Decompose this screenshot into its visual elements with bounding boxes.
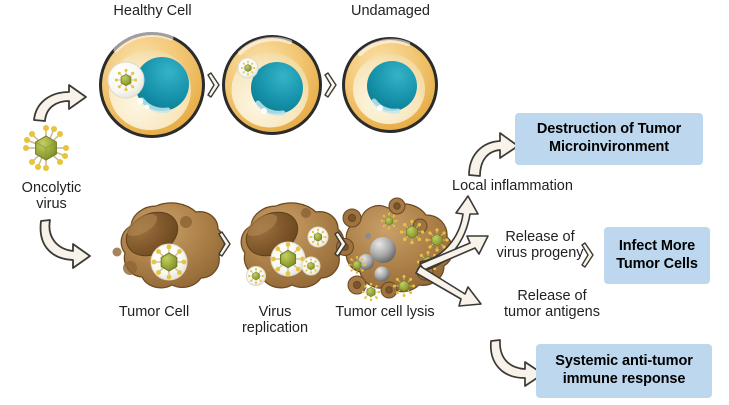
label-tumor-cell: Tumor Cell — [93, 304, 215, 320]
chevron-right-icon — [325, 73, 336, 97]
curved-arrow-icon — [469, 133, 518, 176]
outcome-box-systemic[interactable]: Systemic anti-tumor immune response — [536, 344, 712, 398]
healthy-cell-icon — [222, 35, 322, 135]
curved-arrow-icon — [34, 85, 86, 121]
outcome-box-infect-more[interactable]: Infect More Tumor Cells — [604, 227, 710, 284]
tumor-cell-lysis-icon — [337, 198, 453, 301]
label-virus-replication: Virus replication — [220, 304, 330, 336]
curved-arrow-icon — [41, 220, 90, 268]
tumor-cell-icon — [113, 203, 225, 288]
healthy-cell-icon — [99, 32, 205, 138]
straight-arrow-icon — [416, 266, 481, 306]
label-oncolytic-virus: Oncolytic virus — [0, 180, 103, 212]
virus-particle-icon — [23, 125, 69, 171]
label-local-inflammation: Local inflammation — [430, 178, 595, 194]
outcome-box-destruction[interactable]: Destruction of Tumor Microinvironment — [515, 113, 703, 165]
label-release-tumor-antigens: Release of tumor antigens — [487, 288, 617, 320]
label-tumor-cell-lysis: Tumor cell lysis — [320, 304, 450, 320]
label-healthy-cell: Healthy Cell — [90, 3, 215, 19]
straight-arrow-icon — [420, 196, 478, 271]
chevron-right-icon — [219, 232, 230, 256]
label-undamaged: Undamaged — [328, 3, 453, 19]
straight-arrow-icon — [420, 236, 488, 270]
diagram-canvas: Healthy Cell Undamaged Oncolytic virus T… — [0, 0, 729, 405]
tumor-cell-icon — [239, 203, 344, 288]
chevron-right-icon — [208, 73, 219, 97]
healthy-cell-icon — [342, 37, 438, 133]
chevron-right-icon — [335, 232, 346, 256]
label-release-virus-progeny: Release of virus progeny — [484, 229, 596, 261]
